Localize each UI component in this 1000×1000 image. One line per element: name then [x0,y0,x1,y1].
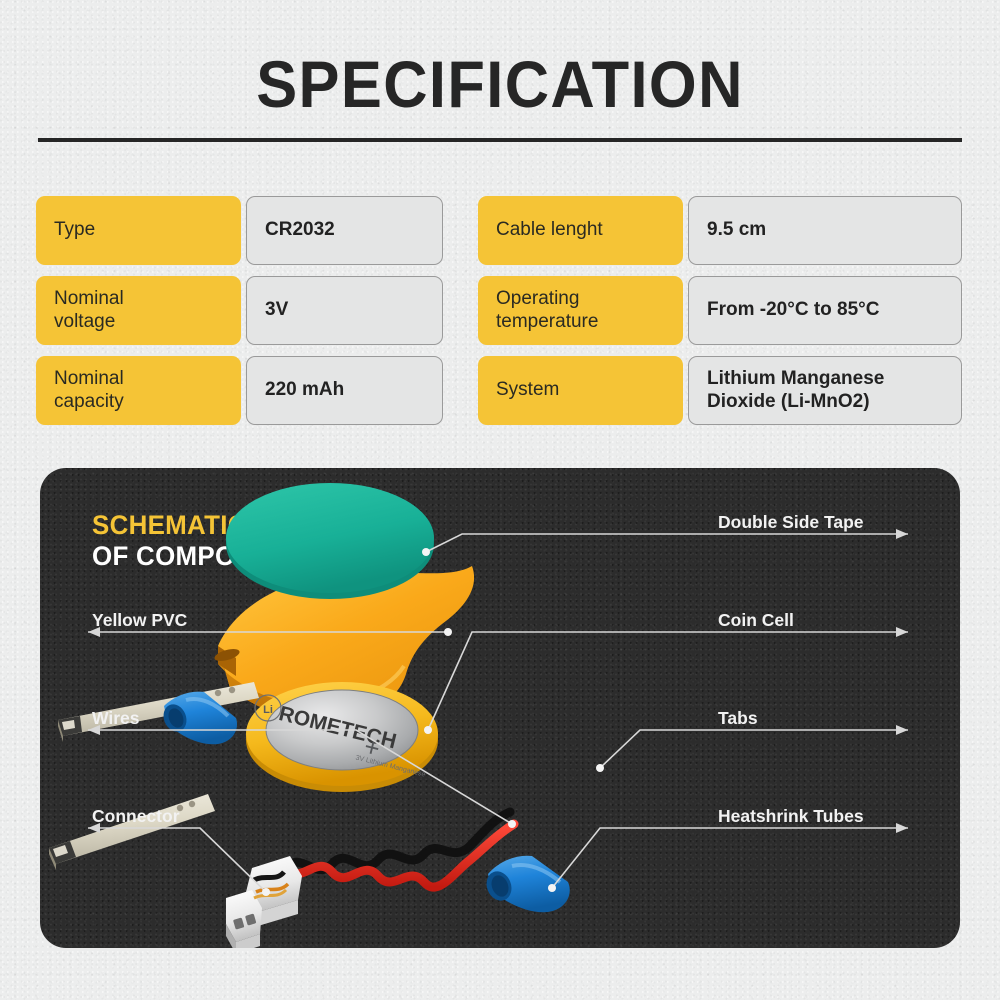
spec-value-operating-temperature: From -20°C to 85°C [688,276,962,345]
callout-leader-lines [40,468,960,948]
spec-label-system: System [478,356,683,425]
spec-value-cable-lenght: 9.5 cm [688,196,962,265]
callout-label-double-side-tape: Double Side Tape [718,512,864,533]
leader-arrowheads [88,529,908,833]
leader-double-side-tape [426,534,908,552]
spec-label-nominal-capacity: Nominalcapacity [36,356,241,425]
spec-value-system: Lithium ManganeseDioxide (Li-MnO2) [688,356,962,425]
page-title: SPECIFICATION [35,46,965,122]
spec-label-nominal-voltage: Nominalvoltage [36,276,241,345]
callout-label-connector: Connector [92,806,180,827]
callout-label-coin-cell: Coin Cell [718,610,794,631]
schematic-panel: SCHEMATIC LAYOUT OF COMPONENTS [40,468,960,948]
leader-anchor-dots [262,548,604,896]
spec-label-cable-lenght: Cable lenght [478,196,683,265]
callout-label-yellow-pvc: Yellow PVC [92,610,187,631]
spec-value-nominal-voltage: 3V [246,276,443,345]
callout-label-heatshrink-tubes: Heatshrink Tubes [718,806,864,827]
callout-label-wires: Wires [92,708,140,729]
callout-label-tabs: Tabs [718,708,758,729]
spec-value-nominal-capacity: 220 mAh [246,356,443,425]
spec-value-type: CR2032 [246,196,443,265]
title-divider [38,138,962,142]
spec-label-operating-temperature: Operatingtemperature [478,276,683,345]
spec-label-type: Type [36,196,241,265]
